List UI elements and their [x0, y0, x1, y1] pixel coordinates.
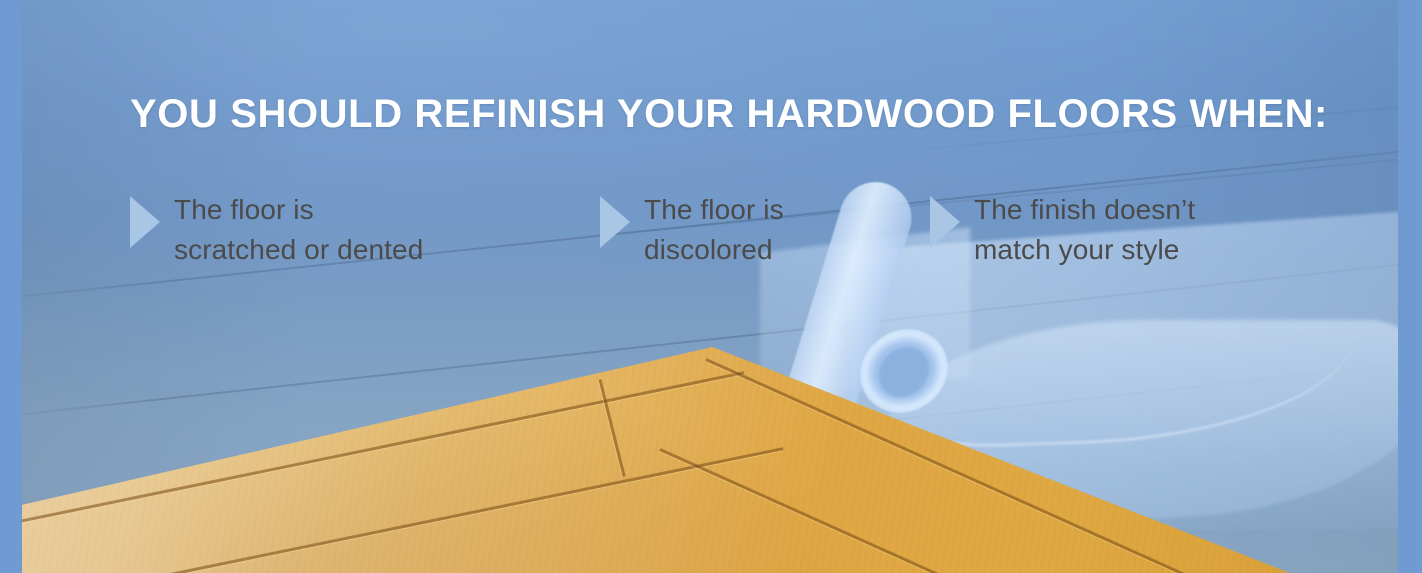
list-item-label: The finish doesn’t match your style — [974, 190, 1195, 271]
list-item-label: The floor is discolored — [644, 190, 784, 271]
bullet-list: The floor is scratched or dented The flo… — [130, 190, 1330, 271]
triangle-right-icon — [930, 196, 960, 248]
banner-content: YOU SHOULD REFINISH YOUR HARDWOOD FLOORS… — [0, 0, 1422, 573]
list-item: The finish doesn’t match your style — [930, 190, 1290, 271]
list-item: The floor is scratched or dented — [130, 190, 600, 271]
list-item-label: The floor is scratched or dented — [174, 190, 423, 271]
refinish-hardwood-banner: YOU SHOULD REFINISH YOUR HARDWOOD FLOORS… — [0, 0, 1422, 573]
list-item: The floor is discolored — [600, 190, 930, 271]
triangle-right-icon — [600, 196, 630, 248]
page-title: YOU SHOULD REFINISH YOUR HARDWOOD FLOORS… — [130, 92, 1328, 137]
triangle-right-icon — [130, 196, 160, 248]
